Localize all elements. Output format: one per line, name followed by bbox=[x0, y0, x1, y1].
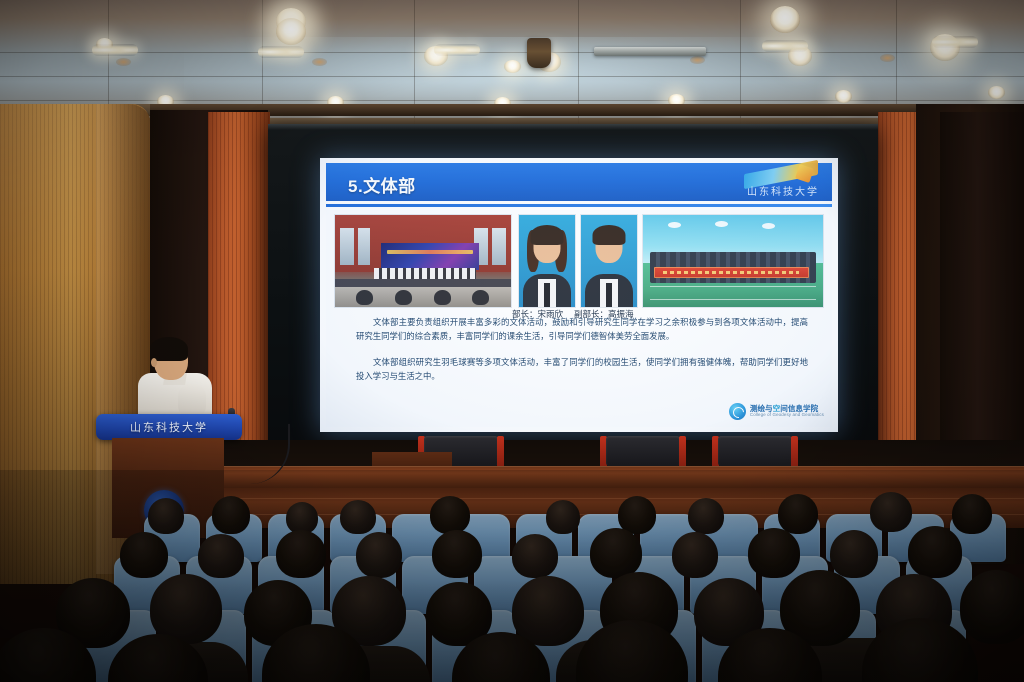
ceiling-light-pair bbox=[434, 44, 480, 56]
slide-photo-row bbox=[334, 214, 824, 306]
slide-paragraph-1: 文体部主要负责组织开展丰富多彩的文体活动，鼓励和引导研究生同学在学习之余积极参与… bbox=[356, 316, 808, 343]
ceiling-light bbox=[504, 60, 521, 73]
speaker-ear bbox=[151, 358, 157, 367]
ceiling-light bbox=[835, 90, 852, 103]
university-logo-text: 山东科技大学 bbox=[747, 183, 819, 198]
audience-head bbox=[748, 528, 800, 578]
portrait-tie bbox=[606, 283, 612, 307]
audience-head bbox=[432, 530, 482, 578]
photo-gym-light bbox=[715, 221, 728, 227]
photo-led-banner bbox=[381, 243, 480, 271]
ceiling-light bbox=[770, 6, 800, 33]
podium-banner-text: 山东科技大学 bbox=[96, 419, 242, 435]
ceiling-seam bbox=[0, 52, 1024, 53]
audience-head bbox=[688, 498, 724, 534]
portrait-department-head bbox=[518, 214, 576, 308]
audience-head bbox=[830, 530, 878, 578]
projector-icon bbox=[527, 38, 551, 68]
college-logo-text: 测绘与空间信息学院 College of Geodesy and Geomati… bbox=[750, 405, 824, 418]
photo-audience-head bbox=[356, 290, 373, 305]
slide-paragraph-2: 文体部组织研究生羽毛球赛等多项文体活动，丰富了同学们的校园生活，使同学们拥有强健… bbox=[356, 356, 808, 383]
screen-frame-highlight bbox=[268, 124, 878, 130]
audience-head bbox=[590, 528, 642, 578]
podium-top-banner: 山东科技大学 bbox=[96, 414, 242, 440]
ceiling-light-pair bbox=[92, 44, 138, 56]
audience-head bbox=[212, 496, 250, 534]
slide-title: 5.文体部 bbox=[348, 172, 416, 197]
audience-seating bbox=[0, 470, 1024, 682]
chair-back bbox=[718, 436, 792, 466]
college-name-en: College of Geodesy and Geomatics bbox=[750, 413, 824, 418]
photo-led-text bbox=[387, 250, 474, 253]
audience-head bbox=[148, 498, 184, 534]
auditorium-scene: 5.文体部 山东科技大学 bbox=[0, 0, 1024, 682]
slide-header-bar: 5.文体部 山东科技大学 bbox=[326, 163, 832, 201]
ceiling-fixture bbox=[880, 54, 895, 62]
photo-court-line bbox=[650, 286, 816, 287]
slide-header-divider bbox=[326, 204, 832, 207]
audience-head bbox=[908, 526, 962, 578]
chair-back bbox=[606, 436, 680, 466]
ceiling-light-pair bbox=[932, 36, 978, 48]
photo-audience-head bbox=[472, 290, 489, 305]
audience-head bbox=[276, 530, 326, 578]
ceiling-light-pair bbox=[258, 46, 304, 58]
audience-head bbox=[340, 500, 376, 534]
ceiling-seam bbox=[0, 76, 1024, 77]
photo-banner-text bbox=[663, 271, 799, 274]
audience-head bbox=[512, 534, 558, 578]
chair-frame-right bbox=[497, 436, 504, 470]
speaker-person bbox=[138, 340, 212, 422]
presentation-slide[interactable]: 5.文体部 山东科技大学 bbox=[320, 158, 838, 432]
photo-court-line bbox=[650, 299, 816, 300]
photo-window bbox=[492, 228, 506, 265]
audience-head bbox=[672, 532, 718, 578]
audience-head bbox=[870, 492, 912, 532]
portrait-tie bbox=[544, 283, 550, 307]
ceiling-seam bbox=[0, 100, 1024, 101]
speaker-hair bbox=[150, 337, 188, 361]
audience-head bbox=[546, 500, 580, 534]
chair-frame-right bbox=[679, 436, 686, 470]
portrait-hair bbox=[593, 225, 626, 245]
audience-head bbox=[952, 494, 992, 534]
ceiling-fixture bbox=[312, 58, 327, 66]
portrait-hair bbox=[531, 225, 564, 245]
audience-head bbox=[198, 534, 244, 578]
logo-mark-icon bbox=[795, 164, 814, 183]
audience-head bbox=[512, 576, 584, 646]
college-logo: 测绘与空间信息学院 College of Geodesy and Geomati… bbox=[729, 401, 824, 421]
slide-body: 部长：宋雨欣 副部长：高振海 文体部主要负责组织开展丰富多彩的文体活动，鼓励和引… bbox=[326, 210, 832, 427]
university-logo: 山东科技大学 bbox=[718, 166, 822, 200]
ceiling-light bbox=[988, 86, 1005, 99]
ceiling-vent bbox=[594, 47, 706, 56]
photo-audience-head bbox=[434, 290, 451, 305]
ceiling-light-pair bbox=[762, 40, 808, 52]
audience-head bbox=[120, 532, 168, 578]
photo-window bbox=[358, 228, 370, 265]
speaker-arm bbox=[178, 384, 206, 418]
audience-head bbox=[356, 532, 402, 578]
chair-frame-right bbox=[791, 436, 798, 470]
badminton-group-photo bbox=[642, 214, 824, 308]
photo-window bbox=[340, 228, 354, 265]
stage-ceremony-photo bbox=[334, 214, 512, 308]
ceiling-light bbox=[276, 18, 306, 45]
ceiling-fixture bbox=[116, 58, 131, 66]
audience-head bbox=[960, 570, 1024, 644]
photo-stage-edge bbox=[335, 279, 511, 286]
portrait-deputy-head bbox=[580, 214, 638, 308]
photo-red-banner bbox=[654, 267, 809, 279]
ceiling-fixture bbox=[690, 56, 705, 64]
photo-audience-head bbox=[395, 290, 412, 305]
audience-head bbox=[430, 496, 470, 534]
audience-head bbox=[778, 494, 818, 534]
college-badge-icon bbox=[729, 403, 746, 420]
